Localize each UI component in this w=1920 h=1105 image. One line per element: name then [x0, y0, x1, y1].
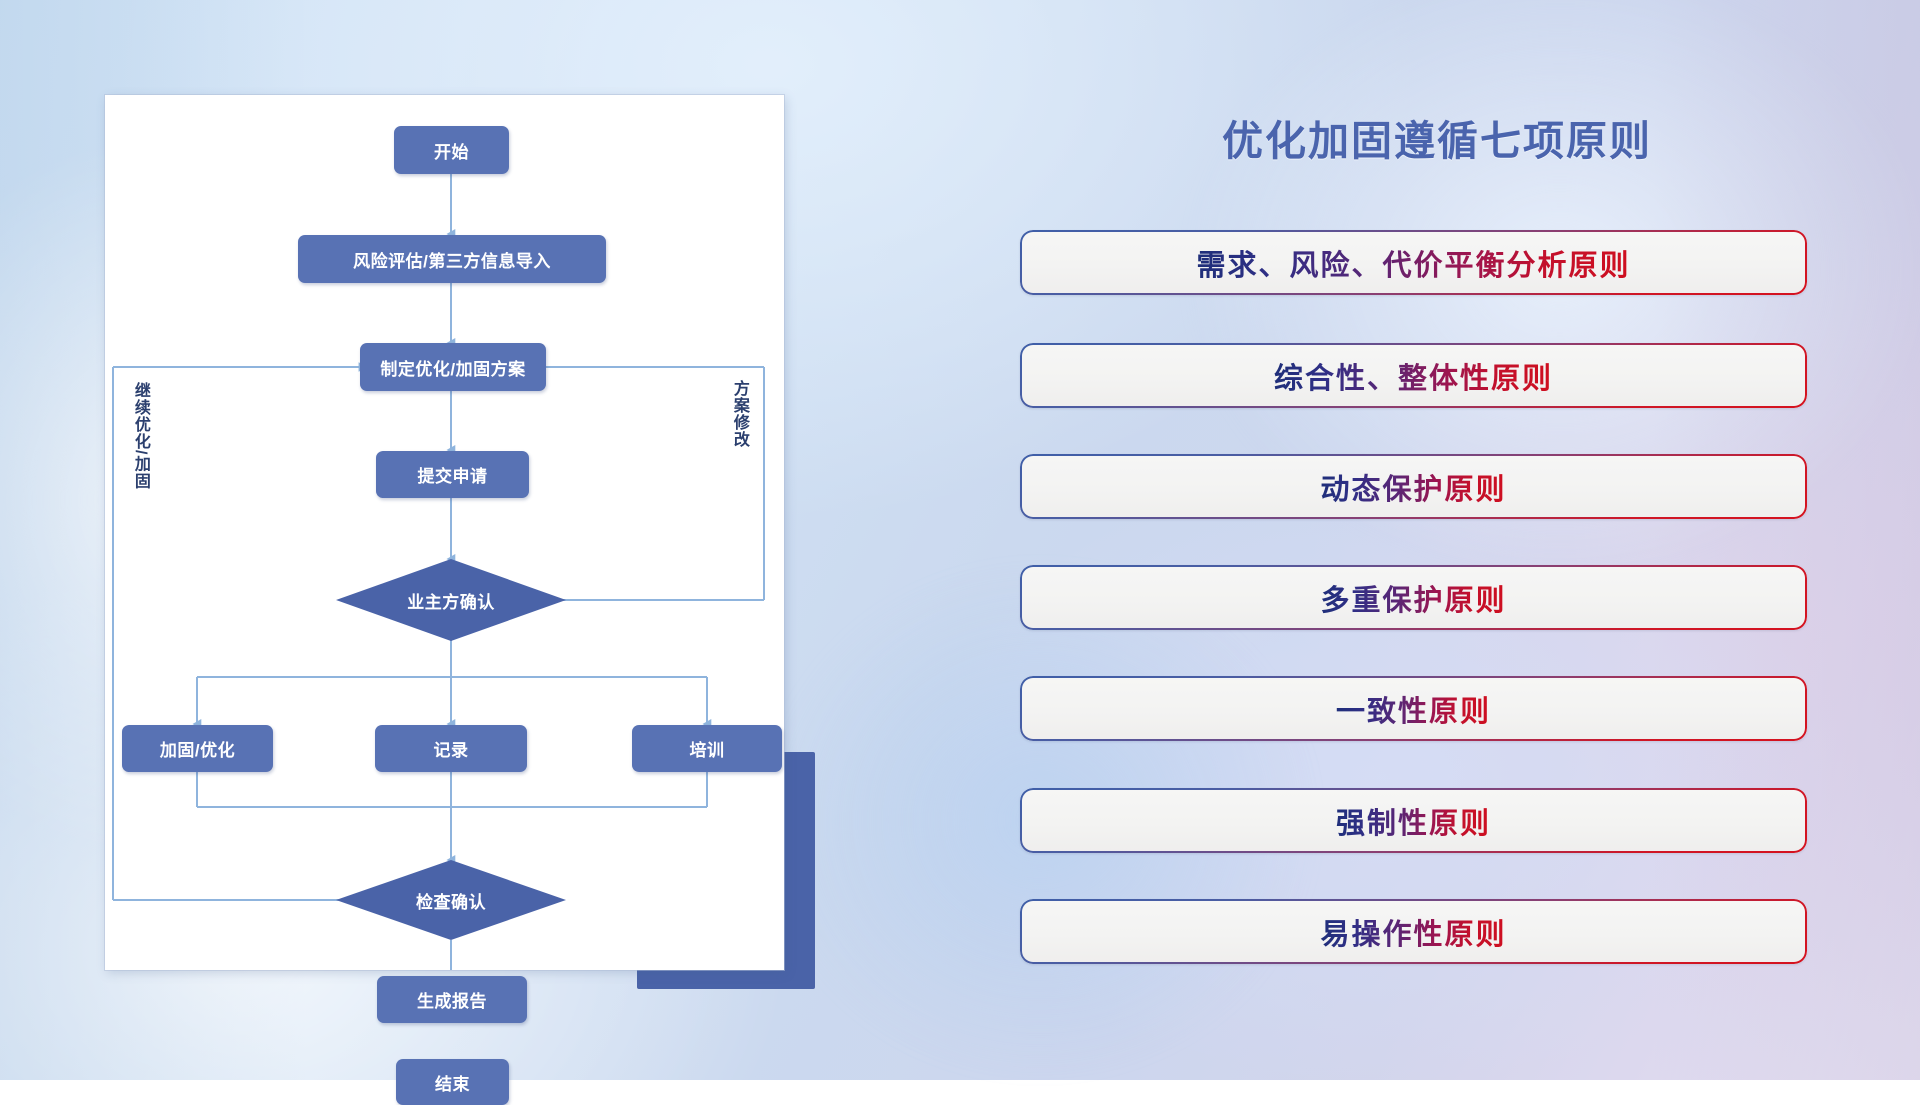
flow-node-reinforce[interactable]: 加固/优化 [122, 725, 273, 772]
flow-node-label: 开始 [434, 138, 469, 163]
flow-node-label: 风险评估/第三方信息导入 [353, 247, 551, 272]
flowchart-canvas: 开始 风险评估/第三方信息导入 制定优化/加固方案 提交申请 业主方确认 加固/… [105, 95, 784, 970]
flow-node-training[interactable]: 培训 [632, 725, 782, 772]
principles-title: 优化加固遵循七项原则 [1157, 107, 1717, 167]
flow-node-label: 制定优化/加固方案 [380, 355, 525, 380]
principle-label: 动态保护原则 [1320, 466, 1506, 508]
flow-node-risk-assessment[interactable]: 风险评估/第三方信息导入 [298, 235, 606, 283]
flow-node-owner-confirm[interactable]: 业主方确认 [336, 559, 566, 641]
flow-node-label: 结束 [435, 1070, 470, 1095]
principle-card[interactable]: 综合性、整体性原则 [1020, 343, 1807, 408]
flow-node-plan[interactable]: 制定优化/加固方案 [360, 343, 546, 391]
flowchart-card: 开始 风险评估/第三方信息导入 制定优化/加固方案 提交申请 业主方确认 加固/… [105, 95, 784, 970]
principles-pane: 优化加固遵循七项原则 需求、风险、代价平衡分析原则 综合性、整体性原则 动态保护… [1020, 0, 1850, 1080]
flow-node-end[interactable]: 结束 [396, 1059, 509, 1105]
principle-card[interactable]: 强制性原则 [1020, 788, 1807, 853]
flow-edge-label-left: 继续优化/加固 [131, 382, 149, 562]
principle-label: 需求、风险、代价平衡分析原则 [1196, 242, 1630, 284]
principle-label: 强制性原则 [1336, 800, 1491, 842]
flow-edge-label-right: 方案修改 [730, 380, 748, 510]
principle-card[interactable]: 易操作性原则 [1020, 899, 1807, 964]
flow-node-label: 业主方确认 [407, 588, 495, 613]
principle-card[interactable]: 一致性原则 [1020, 676, 1807, 741]
flowchart-connectors [105, 95, 784, 970]
flow-node-label: 加固/优化 [160, 736, 235, 761]
flow-node-label: 记录 [434, 736, 469, 761]
flow-node-generate-report[interactable]: 生成报告 [377, 976, 527, 1023]
flow-node-label: 提交申请 [418, 462, 488, 487]
principle-label: 一致性原则 [1336, 688, 1491, 730]
principle-label: 易操作性原则 [1320, 911, 1506, 953]
flow-node-label: 培训 [690, 736, 725, 761]
flow-node-inspection-confirm[interactable]: 检查确认 [336, 860, 566, 940]
principle-label: 综合性、整体性原则 [1274, 355, 1553, 397]
flow-node-label: 生成报告 [417, 987, 487, 1012]
principle-card[interactable]: 多重保护原则 [1020, 565, 1807, 630]
flow-node-start[interactable]: 开始 [394, 126, 509, 174]
principle-card[interactable]: 需求、风险、代价平衡分析原则 [1020, 230, 1807, 295]
flow-node-record[interactable]: 记录 [375, 725, 527, 772]
principle-label: 多重保护原则 [1320, 577, 1506, 619]
flow-node-submit-application[interactable]: 提交申请 [376, 451, 529, 498]
flow-node-label: 检查确认 [416, 888, 486, 913]
principle-card[interactable]: 动态保护原则 [1020, 454, 1807, 519]
